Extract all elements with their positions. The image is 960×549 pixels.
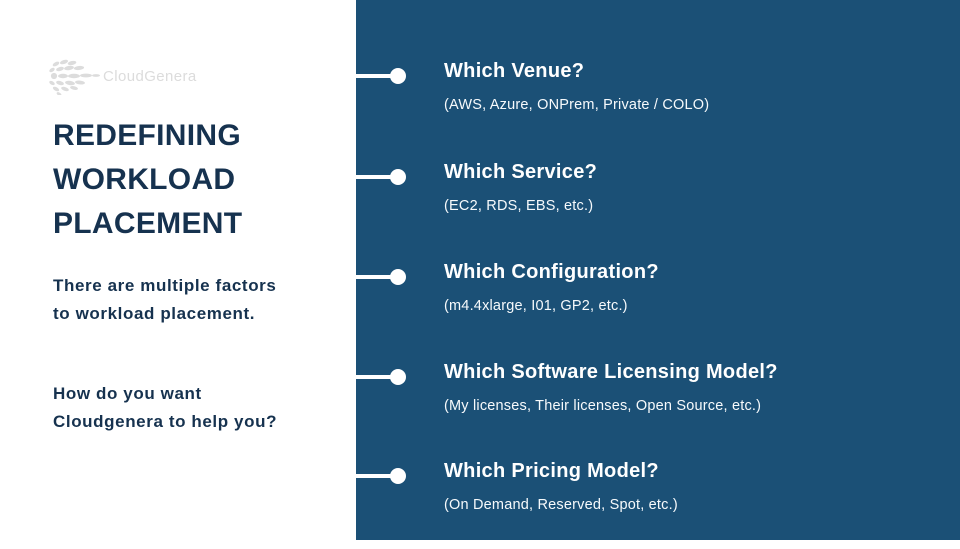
- list-item: Which Service? (EC2, RDS, EBS, etc.): [356, 160, 960, 250]
- list-item-question: Which Pricing Model?: [444, 459, 954, 483]
- bullet-connector: [356, 165, 406, 189]
- list-item-text: Which Pricing Model? (On Demand, Reserve…: [444, 459, 954, 515]
- list-item-text: Which Configuration? (m4.4xlarge, I01, G…: [444, 260, 954, 316]
- list-item-text: Which Software Licensing Model? (My lice…: [444, 360, 954, 416]
- page-title: REDEFINING WORKLOAD PLACEMENT: [53, 114, 333, 246]
- bullet-dot-icon: [390, 468, 406, 484]
- bullet-connector: [356, 464, 406, 488]
- list-item-examples: (m4.4xlarge, I01, GP2, etc.): [444, 296, 954, 316]
- list-item-examples: (On Demand, Reserved, Spot, etc.): [444, 495, 954, 515]
- cloudgenera-particle-swoosh-icon: [47, 57, 105, 95]
- list-item-examples: (EC2, RDS, EBS, etc.): [444, 196, 954, 216]
- list-item-text: Which Venue? (AWS, Azure, ONPrem, Privat…: [444, 59, 954, 115]
- slide-root: CloudGenera REDEFINING WORKLOAD PLACEMEN…: [0, 0, 960, 540]
- list-item-question: Which Configuration?: [444, 260, 954, 284]
- list-item: Which Software Licensing Model? (My lice…: [356, 360, 960, 450]
- bullet-line-icon: [356, 375, 394, 379]
- brand-wordmark: CloudGenera: [103, 68, 197, 85]
- intro-paragraph: There are multiple factors to workload p…: [53, 272, 298, 328]
- list-item: Which Pricing Model? (On Demand, Reserve…: [356, 459, 960, 549]
- question-paragraph: How do you want Cloudgenera to help you?: [53, 380, 298, 436]
- list-item-examples: (AWS, Azure, ONPrem, Private / COLO): [444, 95, 954, 115]
- brand-logo: CloudGenera: [47, 56, 217, 96]
- bullet-line-icon: [356, 74, 394, 78]
- bullet-dot-icon: [390, 269, 406, 285]
- bullet-connector: [356, 64, 406, 88]
- bullet-line-icon: [356, 175, 394, 179]
- bullet-dot-icon: [390, 68, 406, 84]
- list-item-question: Which Software Licensing Model?: [444, 360, 954, 384]
- list-item-examples: (My licenses, Their licenses, Open Sourc…: [444, 396, 954, 416]
- list-item-text: Which Service? (EC2, RDS, EBS, etc.): [444, 160, 954, 216]
- list-item: Which Venue? (AWS, Azure, ONPrem, Privat…: [356, 59, 960, 149]
- list-item-question: Which Service?: [444, 160, 954, 184]
- bullet-dot-icon: [390, 369, 406, 385]
- bullet-connector: [356, 365, 406, 389]
- list-item: Which Configuration? (m4.4xlarge, I01, G…: [356, 260, 960, 350]
- left-content-panel: CloudGenera REDEFINING WORKLOAD PLACEMEN…: [0, 0, 356, 540]
- questions-panel: Which Venue? (AWS, Azure, ONPrem, Privat…: [356, 0, 960, 540]
- list-item-question: Which Venue?: [444, 59, 954, 83]
- bullet-connector: [356, 265, 406, 289]
- bullet-dot-icon: [390, 169, 406, 185]
- bullet-line-icon: [356, 275, 394, 279]
- bullet-line-icon: [356, 474, 394, 478]
